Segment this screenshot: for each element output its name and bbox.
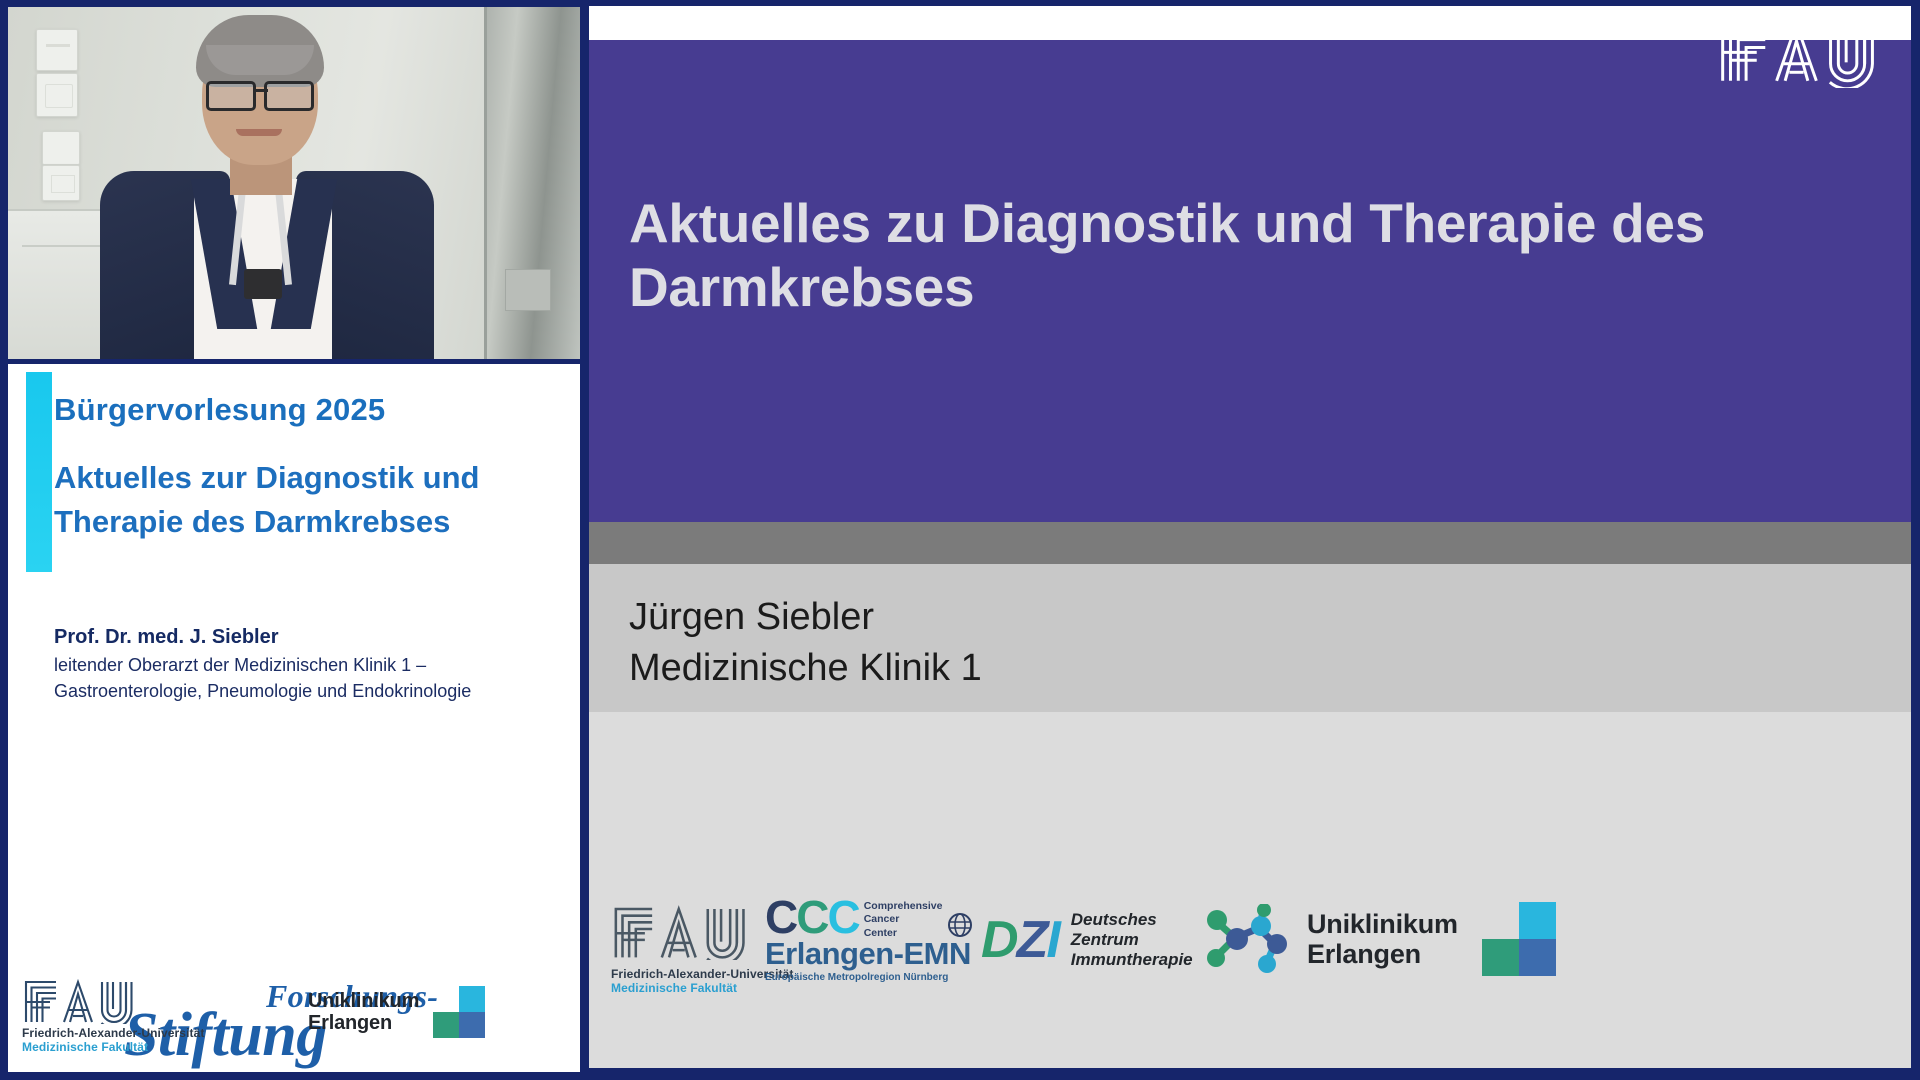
wall-socket-icon	[36, 29, 78, 71]
glasses-icon	[204, 81, 316, 105]
foundation-line3: Medizin	[218, 1068, 328, 1072]
wall-socket-icon	[42, 131, 80, 165]
ccc-main-text: Erlangen-EMN	[765, 936, 973, 972]
dzi-logo: DZI Deutsches Zentrum Immuntherapie	[981, 904, 1287, 976]
lecture-title: Aktuelles zur Diagnostik und Therapie de…	[54, 456, 570, 544]
ccc-logo: CCC Comprehensive Cancer Center	[765, 896, 973, 983]
fau-wordmark-icon	[611, 904, 761, 960]
presentation-slide[interactable]: Aktuelles zu Diagnostik und Therapie des…	[589, 6, 1911, 1068]
slide-top-strip	[589, 6, 1911, 40]
video-door-panel	[484, 7, 580, 359]
ccc-letter-1: C	[765, 891, 796, 943]
fau-wordmark-icon	[22, 978, 146, 1024]
dzi-line-2: Zentrum	[1071, 930, 1193, 950]
lecture-viewer: Bürgervorlesung 2025 Aktuelles zur Diagn…	[0, 0, 1920, 1080]
uniklinikum-line2: Erlangen	[1307, 939, 1458, 969]
uniklinikum-cross-icon	[1482, 902, 1556, 976]
slide-divider-bar	[589, 522, 1911, 564]
speaker-name: Prof. Dr. med. J. Siebler	[54, 626, 570, 649]
speaker-microphone	[244, 269, 282, 299]
slide-logo-row: Friedrich-Alexander-Universität Medizini…	[589, 886, 1911, 1026]
uniklinikum-line1: Uniklinikum	[1307, 909, 1458, 939]
slide-speaker-dept: Medizinische Klinik 1	[629, 643, 982, 694]
ccc-word-2: Cancer	[864, 913, 943, 926]
fau-watermark-logo	[1717, 14, 1893, 93]
speaker-mouth	[236, 129, 282, 136]
uniklinikum-line2: Erlangen	[308, 1012, 419, 1034]
globe-icon	[947, 912, 973, 938]
ccc-letters: CCC	[765, 896, 859, 938]
uniklinikum-text: Uniklinikum Erlangen	[1307, 909, 1458, 969]
ccc-letter-2: C	[796, 891, 827, 943]
slide-speaker-name: Jürgen Siebler	[629, 592, 982, 643]
dzi-line-3: Immuntherapie	[1071, 950, 1193, 970]
ccc-words: Comprehensive Cancer Center	[864, 900, 943, 940]
glasses-bridge	[254, 89, 268, 92]
dzi-words: Deutsches Zentrum Immuntherapie	[1071, 910, 1193, 970]
dzi-line-1: Deutsches	[1071, 910, 1193, 930]
ccc-top-row: CCC Comprehensive Cancer Center	[765, 896, 973, 940]
dzi-letters: DZI	[981, 914, 1059, 966]
ccc-letter-3: C	[827, 891, 858, 943]
fau-logo: Friedrich-Alexander-Universität Medizini…	[22, 978, 205, 1054]
uniklinikum-line1: Uniklinikum	[308, 990, 419, 1012]
info-card-body: Bürgervorlesung 2025 Aktuelles zur Diagn…	[54, 372, 570, 704]
fau-subline-2: Medizinische Fakultät	[22, 1040, 205, 1054]
ccc-subline: Europäische Metropolregion Nürnberg	[765, 972, 973, 983]
uniklinikum-cross-icon	[433, 986, 485, 1038]
wall-socket-icon	[42, 165, 80, 201]
slide-panel: Aktuelles zu Diagnostik und Therapie des…	[580, 0, 1920, 1080]
dzi-letter-2: Z	[1017, 911, 1047, 969]
dzi-letter-3: I	[1046, 911, 1058, 969]
uniklinikum-logo: Uniklinikum Erlangen	[1307, 902, 1556, 976]
left-column: Bürgervorlesung 2025 Aktuelles zur Diagn…	[0, 0, 580, 1080]
dzi-letter-1: D	[981, 911, 1017, 969]
fau-subline-1: Friedrich-Alexander-Universität	[22, 1026, 205, 1040]
slide-title: Aktuelles zu Diagnostik und Therapie des…	[629, 192, 1769, 320]
slide-speaker-block: Jürgen Siebler Medizinische Klinik 1	[629, 592, 982, 695]
wall-socket-icon	[36, 73, 78, 117]
speaker-video[interactable]	[8, 7, 580, 359]
molecule-icon	[1201, 904, 1287, 976]
uniklinikum-logo: Uniklinikum Erlangen	[308, 986, 485, 1038]
ccc-word-1: Comprehensive	[864, 900, 943, 913]
series-title: Bürgervorlesung 2025	[54, 392, 570, 428]
lecture-info-card: Bürgervorlesung 2025 Aktuelles zur Diagn…	[8, 364, 580, 1072]
speaker-role: leitender Oberarzt der Medizinischen Kli…	[54, 653, 570, 704]
accent-bar	[26, 372, 52, 572]
fau-wordmark-icon	[1717, 14, 1893, 88]
